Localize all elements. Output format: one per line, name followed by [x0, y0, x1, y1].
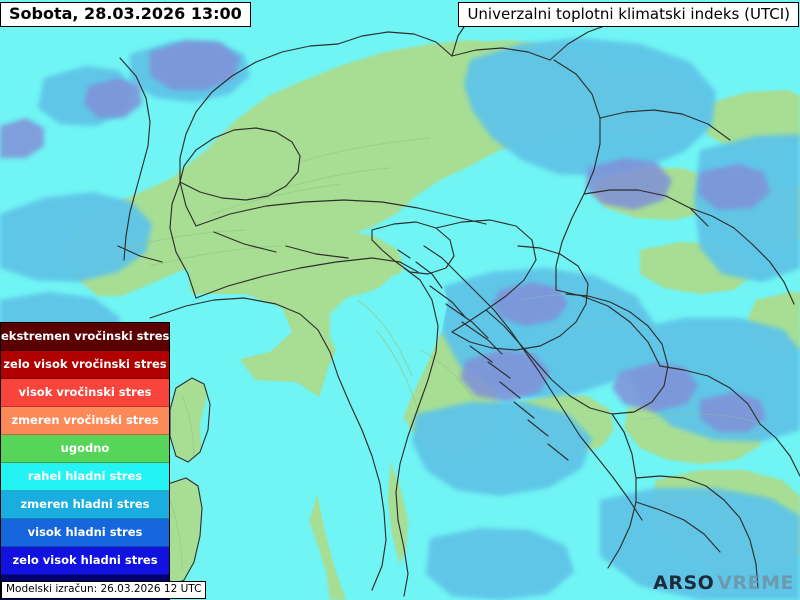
model-run-note: Modelski izračun: 26.03.2026 12 UTC: [1, 581, 206, 599]
utci-legend: ekstremen vročinski stres zelo visok vro…: [0, 322, 170, 600]
legend-item-comfortable[interactable]: ugodno: [1, 435, 169, 463]
legend-item-very-strong-heat-stress[interactable]: zelo visok vročinski stres: [1, 351, 169, 379]
legend-item-moderate-heat-stress[interactable]: zmeren vročinski stres: [1, 407, 169, 435]
legend-item-very-strong-cold-stress[interactable]: zelo visok hladni stres: [1, 547, 169, 575]
brand-arso: ARSO: [653, 572, 714, 594]
arso-vreme-logo[interactable]: ARSOVREME: [653, 572, 794, 594]
page-title: Univerzalni toplotni klimatski indeks (U…: [458, 2, 799, 27]
brand-vreme: VREME: [717, 572, 794, 594]
legend-item-strong-cold-stress[interactable]: visok hladni stres: [1, 519, 169, 547]
datetime-label: Sobota, 28.03.2026 13:00: [0, 2, 251, 27]
legend-item-strong-heat-stress[interactable]: visok vročinski stres: [1, 379, 169, 407]
legend-item-moderate-cold-stress[interactable]: zmeren hladni stres: [1, 491, 169, 519]
legend-item-extreme-heat-stress[interactable]: ekstremen vročinski stres: [1, 323, 169, 351]
legend-item-slight-cold-stress[interactable]: rahel hladni stres: [1, 463, 169, 491]
utci-map-screenshot: Sobota, 28.03.2026 13:00 Univerzalni top…: [0, 0, 800, 600]
